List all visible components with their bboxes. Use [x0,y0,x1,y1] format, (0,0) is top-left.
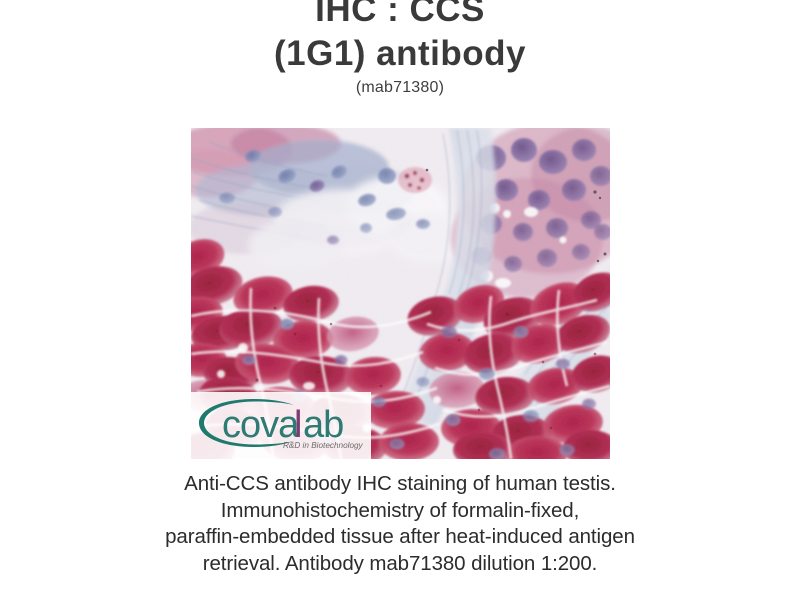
caption-line-1: Anti-CCS antibody IHC staining of human … [60,471,740,498]
covalab-logo-watermark: cova l ab R&D in Biotechnology [191,392,371,459]
figure-page: IHC : CCS (1G1) antibody (mab71380) [0,0,800,600]
caption-line-2: Immunohistochemistry of formalin-fixed, [60,498,740,525]
svg-text:ab: ab [303,404,343,446]
svg-text:cova: cova [222,404,300,446]
caption-line-3: paraffin-embedded tissue after heat-indu… [60,524,740,551]
covalab-logo: cova l ab R&D in Biotechnology [195,395,367,451]
figure-caption: Anti-CCS antibody IHC staining of human … [60,471,740,577]
page-title-line-2: (1G1) antibody [0,32,800,76]
caption-line-4: retrieval. Antibody mab71380 dilution 1:… [60,551,740,578]
svg-text:l: l [294,404,301,446]
catalog-number: (mab71380) [0,77,800,99]
page-title-line-1: IHC : CCS [0,0,800,32]
figure-header: IHC : CCS (1G1) antibody (mab71380) [0,0,800,99]
logo-tagline: R&D in Biotechnology [283,441,364,450]
